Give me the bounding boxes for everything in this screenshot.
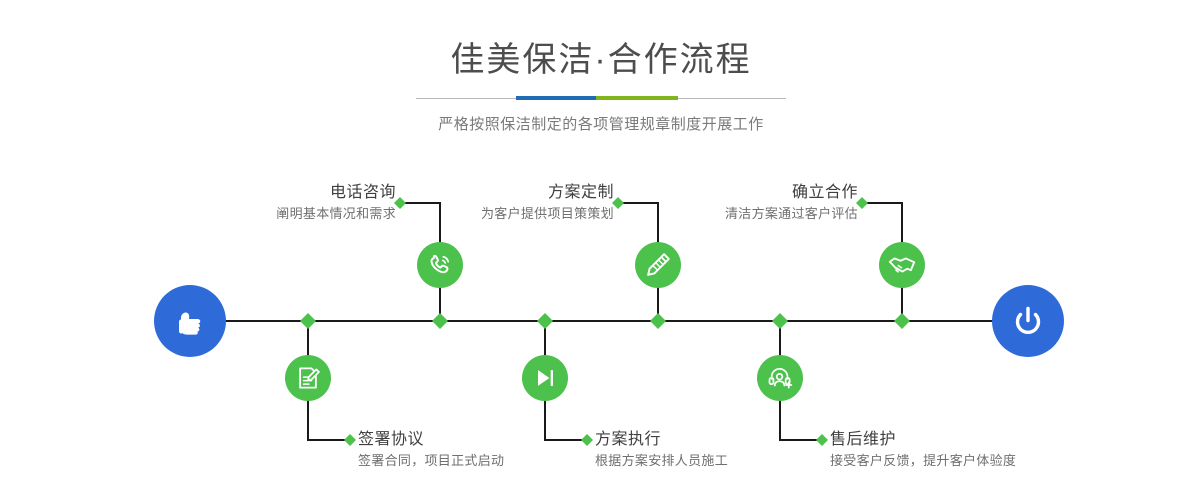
flow-end-endpoint[interactable] (992, 285, 1064, 357)
diamond-caption-step-2 (344, 434, 356, 446)
diamond-marker-step-6 (772, 313, 788, 329)
step-node-2[interactable] (285, 355, 331, 401)
flow-connectors (0, 0, 1202, 502)
pointing-hand-icon (170, 301, 210, 341)
step-node-1[interactable] (417, 242, 463, 288)
diamond-marker-step-5 (894, 313, 910, 329)
step-desc-6: 接受客户反馈，提升客户体验度 (830, 451, 1190, 471)
diamond-marker-step-1 (432, 313, 448, 329)
power-icon (1008, 301, 1048, 341)
diamond-marker-step-4 (537, 313, 553, 329)
step-desc-5: 清洁方案通过客户评估 (570, 204, 858, 224)
step-node-3[interactable] (635, 242, 681, 288)
step-title-5: 确立合作 (570, 182, 858, 204)
document-edit-icon (294, 364, 322, 392)
step-caption-5: 确立合作 清洁方案通过客户评估 (570, 182, 858, 224)
step-title-6: 售后维护 (830, 429, 1190, 451)
phone-call-icon (425, 250, 455, 280)
handshake-icon (887, 250, 917, 280)
step-node-5[interactable] (879, 242, 925, 288)
diamond-marker-step-2 (300, 313, 316, 329)
process-flow-diagram: 电话咨询 阐明基本情况和需求 签署协议 签署合同，项目正式启动 方案定制 为客户… (0, 0, 1202, 502)
step-node-6[interactable] (757, 355, 803, 401)
pencil-ruler-icon (643, 250, 673, 280)
flow-start-endpoint[interactable] (154, 285, 226, 357)
step-caption-6: 售后维护 接受客户反馈，提升客户体验度 (830, 429, 1190, 471)
customer-support-icon (766, 364, 794, 392)
play-start-icon (531, 364, 559, 392)
step-node-4[interactable] (522, 355, 568, 401)
diamond-marker-step-3 (650, 313, 666, 329)
